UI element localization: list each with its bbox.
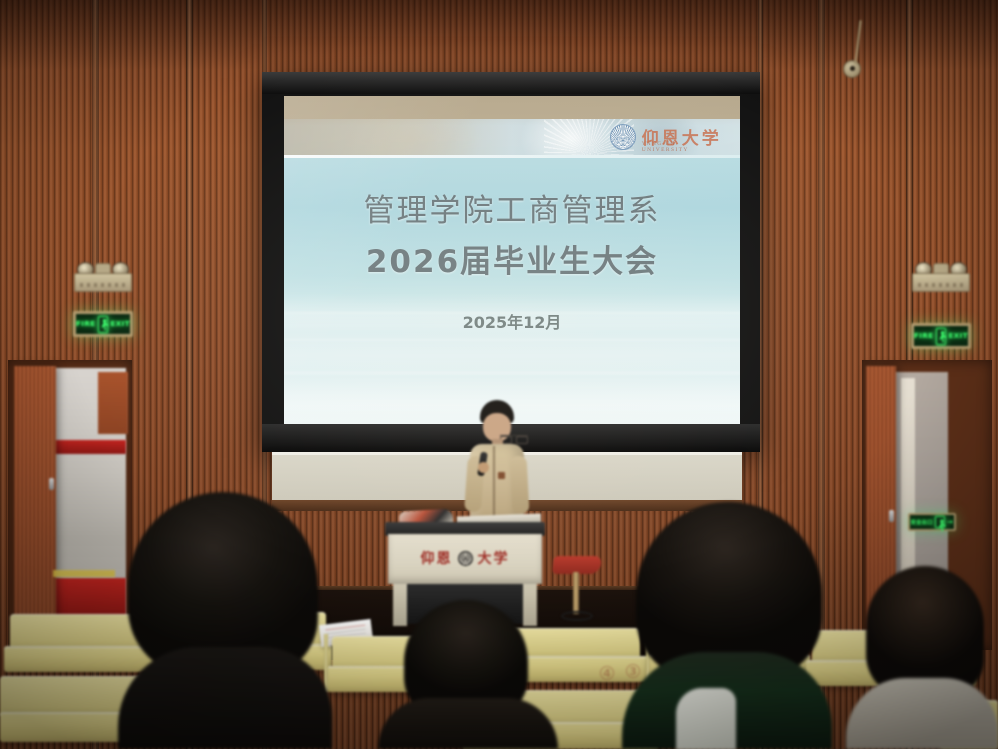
exit-sign-left: FIRE EXIT — [73, 311, 133, 337]
glasses-icon — [500, 435, 528, 441]
presenter-hand — [478, 462, 489, 473]
student-shoulders — [846, 678, 998, 749]
red-stool — [553, 556, 601, 622]
stool-base — [561, 611, 593, 621]
exit-sign-right: FIRE EXIT — [911, 323, 971, 349]
exit-word-chinese: 安全出口 — [911, 519, 933, 526]
emergency-light-right — [912, 262, 970, 292]
speaker-cone — [850, 66, 855, 71]
podium-text-left: 仰恩 — [421, 548, 453, 568]
presenter — [466, 400, 528, 520]
corridor-wood-panel — [98, 372, 128, 434]
emergency-light-body — [74, 273, 132, 292]
slide-date: 2025年12月 — [284, 309, 740, 333]
university-emblem-icon — [458, 551, 473, 566]
university-emblem-icon — [610, 124, 636, 150]
student-collar — [676, 688, 736, 749]
door-handle-icon[interactable] — [889, 510, 894, 522]
student-shoulders — [378, 698, 558, 749]
exit-sign-corridor: 安全出口 → — [908, 513, 956, 531]
stool-pole — [573, 572, 579, 614]
student-shoulders — [118, 647, 332, 749]
audience-member — [622, 502, 832, 749]
emergency-light-body — [912, 273, 970, 292]
corridor-pillar — [901, 378, 915, 588]
running-man-icon — [935, 516, 945, 528]
slide-title-line1: 管理学院工商管理系 — [284, 185, 740, 230]
podium-text-right: 大学 — [478, 548, 510, 568]
auditorium-photo: 仰恩大学 YANG-EN UNIVERSITY 管理学院工商管理系 2026届毕… — [0, 0, 998, 749]
sea-streak — [284, 339, 740, 341]
screen-top-bar — [262, 72, 760, 94]
audience-member — [118, 492, 332, 749]
slide-title-line2: 2026届毕业生大会 — [284, 236, 740, 281]
emergency-light-vents — [80, 283, 128, 287]
emergency-light-vents — [918, 283, 966, 287]
slide-canvas: 仰恩大学 YANG-EN UNIVERSITY 管理学院工商管理系 2026届毕… — [284, 96, 740, 424]
running-man-icon — [936, 328, 947, 345]
exit-word-fire: FIRE — [914, 332, 934, 340]
floor-caution-strip — [53, 570, 115, 577]
left-door-panel[interactable] — [14, 366, 56, 642]
exit-word-fire: FIRE — [76, 320, 96, 328]
podium-nameplate: 仰恩 大学 — [388, 548, 542, 568]
audience-member — [378, 600, 558, 749]
presenter-face — [483, 413, 511, 442]
seat-number: 4 — [600, 666, 614, 680]
exit-word-exit: EXIT — [948, 332, 968, 340]
exit-arrow-icon: → — [947, 518, 953, 526]
slide-band-underline — [284, 155, 740, 158]
podium-front-panel: 仰恩 大学 — [388, 534, 542, 584]
audience-member — [846, 566, 998, 749]
jacket-logo — [498, 472, 505, 479]
logo-english-name: YANG-EN UNIVERSITY — [642, 141, 720, 153]
presenter-arm-right — [509, 456, 529, 515]
jacket-placket — [493, 446, 495, 518]
projection-screen: 仰恩大学 YANG-EN UNIVERSITY 管理学院工商管理系 2026届毕… — [262, 72, 760, 452]
slide-title-block: 管理学院工商管理系 2026届毕业生大会 — [284, 185, 740, 281]
exit-word-exit: EXIT — [110, 320, 130, 328]
slide-university-logo: 仰恩大学 YANG-EN UNIVERSITY — [610, 124, 722, 150]
sea-streak — [284, 372, 740, 374]
door-handle-icon[interactable] — [49, 478, 54, 490]
running-man-icon — [98, 316, 109, 333]
emergency-light-left — [74, 262, 132, 292]
wall-speaker-icon — [843, 60, 861, 78]
corridor-carpet — [52, 440, 126, 454]
